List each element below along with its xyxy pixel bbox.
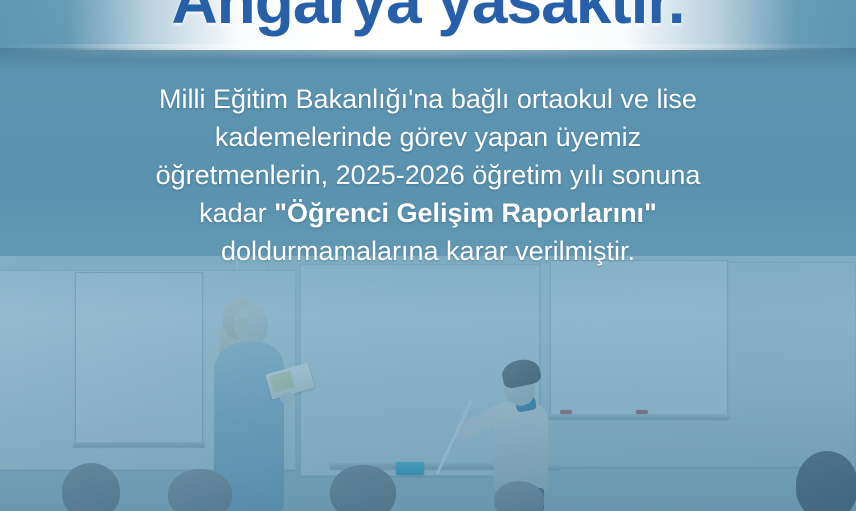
header-band-fade [0, 44, 856, 60]
body-line-prefix: kadar [199, 198, 274, 228]
body-line: doldurmamalarına karar verilmiştir. [48, 232, 808, 270]
body-line: Milli Eğitim Bakanlığı'na bağlı ortaokul… [48, 80, 808, 118]
body-copy: Milli Eğitim Bakanlığı'na bağlı ortaokul… [48, 80, 808, 270]
headline: Angarya yasaktır. [0, 0, 856, 35]
body-line: kademelerinde görev yapan üyemiz [48, 118, 808, 156]
body-line: öğretmenlerin, 2025-2026 öğretim yılı so… [48, 156, 808, 194]
body-line-quoted-phrase: "Öğrenci Gelişim Raporlarını" [274, 198, 657, 228]
photo-blue-tint [0, 250, 856, 511]
body-line-emphasis: kadar "Öğrenci Gelişim Raporlarını" [48, 194, 808, 232]
poster-root: Angarya yasaktır. Milli Eğitim Bakanlığı… [0, 0, 856, 511]
